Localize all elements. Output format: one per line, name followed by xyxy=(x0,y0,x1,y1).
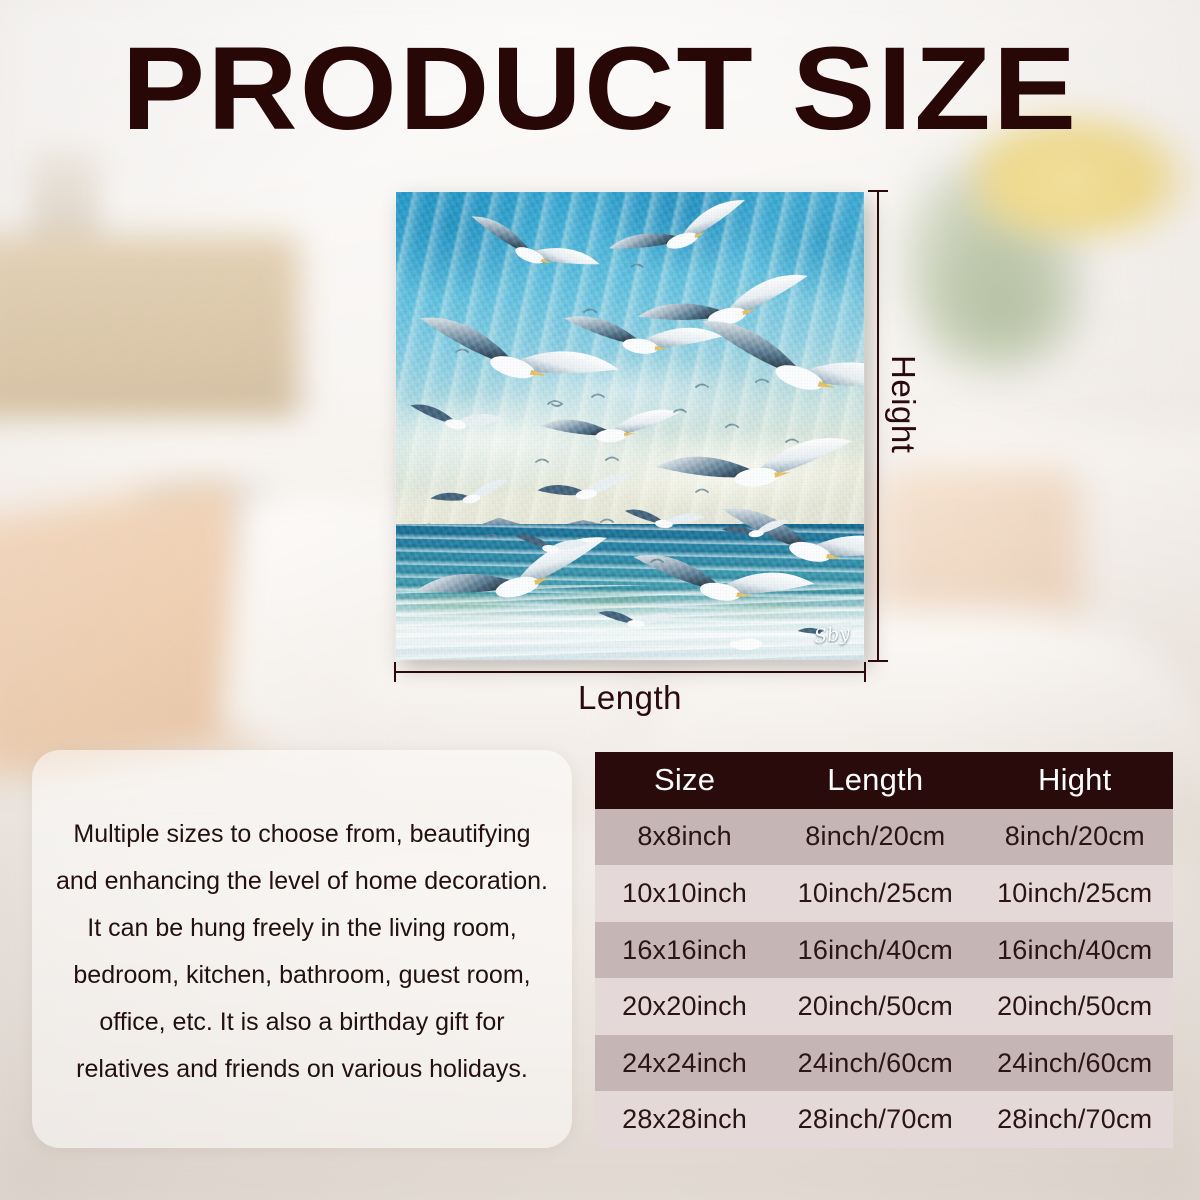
cell-length: 20inch/50cm xyxy=(774,991,976,1022)
height-measure-line xyxy=(877,190,879,662)
product-canvas-preview: Sby xyxy=(396,192,864,660)
description-line: bedroom, kitchen, bathroom, guest room, xyxy=(54,963,550,988)
cell-height: 16inch/40cm xyxy=(976,935,1173,966)
cell-height: 20inch/50cm xyxy=(976,991,1173,1022)
cell-height: 24inch/60cm xyxy=(976,1048,1173,1079)
description-line: It can be hung freely in the living room… xyxy=(54,916,550,941)
length-label: Length xyxy=(394,679,866,717)
cell-size: 8x8inch xyxy=(595,821,774,852)
table-row[interactable]: 10x10inch 10inch/25cm 10inch/25cm xyxy=(595,865,1173,922)
artist-signature: Sby xyxy=(813,622,851,648)
product-size-infographic: PRODUCT SIZE xyxy=(0,0,1200,1200)
cell-size: 20x20inch xyxy=(595,991,774,1022)
length-measure-line xyxy=(394,671,866,673)
cell-length: 28inch/70cm xyxy=(774,1104,976,1135)
size-table: Size Length Hight 8x8inch 8inch/20cm 8in… xyxy=(595,752,1173,1148)
cell-length: 8inch/20cm xyxy=(774,821,976,852)
cell-height: 10inch/25cm xyxy=(976,878,1173,909)
description-line: office, etc. It is also a birthday gift … xyxy=(54,1010,550,1035)
cell-height: 28inch/70cm xyxy=(976,1104,1173,1135)
cell-length: 24inch/60cm xyxy=(774,1048,976,1079)
table-row[interactable]: 8x8inch 8inch/20cm 8inch/20cm xyxy=(595,809,1173,866)
cell-size: 24x24inch xyxy=(595,1048,774,1079)
table-row[interactable]: 24x24inch 24inch/60cm 24inch/60cm xyxy=(595,1035,1173,1092)
cell-size: 10x10inch xyxy=(595,878,774,909)
cell-size: 16x16inch xyxy=(595,935,774,966)
description-line: and enhancing the level of home decorati… xyxy=(54,869,550,894)
page-title: PRODUCT SIZE xyxy=(0,30,1200,148)
cell-length: 10inch/25cm xyxy=(774,878,976,909)
artwork-seagull-flock xyxy=(396,192,864,660)
height-label: Height xyxy=(884,355,922,453)
table-header-size: Size xyxy=(595,762,774,798)
table-row[interactable]: 28x28inch 28inch/70cm 28inch/70cm xyxy=(595,1091,1173,1148)
cell-height: 8inch/20cm xyxy=(976,821,1173,852)
cell-length: 16inch/40cm xyxy=(774,935,976,966)
artwork-seagull-painting: Sby xyxy=(396,192,864,660)
description-line: relatives and friends on various holiday… xyxy=(54,1057,550,1082)
cell-size: 28x28inch xyxy=(595,1104,774,1135)
description-card: Multiple sizes to choose from, beautifyi… xyxy=(32,750,572,1148)
table-header-height: Hight xyxy=(976,762,1173,798)
table-row[interactable]: 20x20inch 20inch/50cm 20inch/50cm xyxy=(595,978,1173,1035)
table-header-length: Length xyxy=(774,762,976,798)
table-row[interactable]: 16x16inch 16inch/40cm 16inch/40cm xyxy=(595,922,1173,979)
description-line: Multiple sizes to choose from, beautifyi… xyxy=(54,822,550,847)
table-header-row: Size Length Hight xyxy=(595,752,1173,809)
